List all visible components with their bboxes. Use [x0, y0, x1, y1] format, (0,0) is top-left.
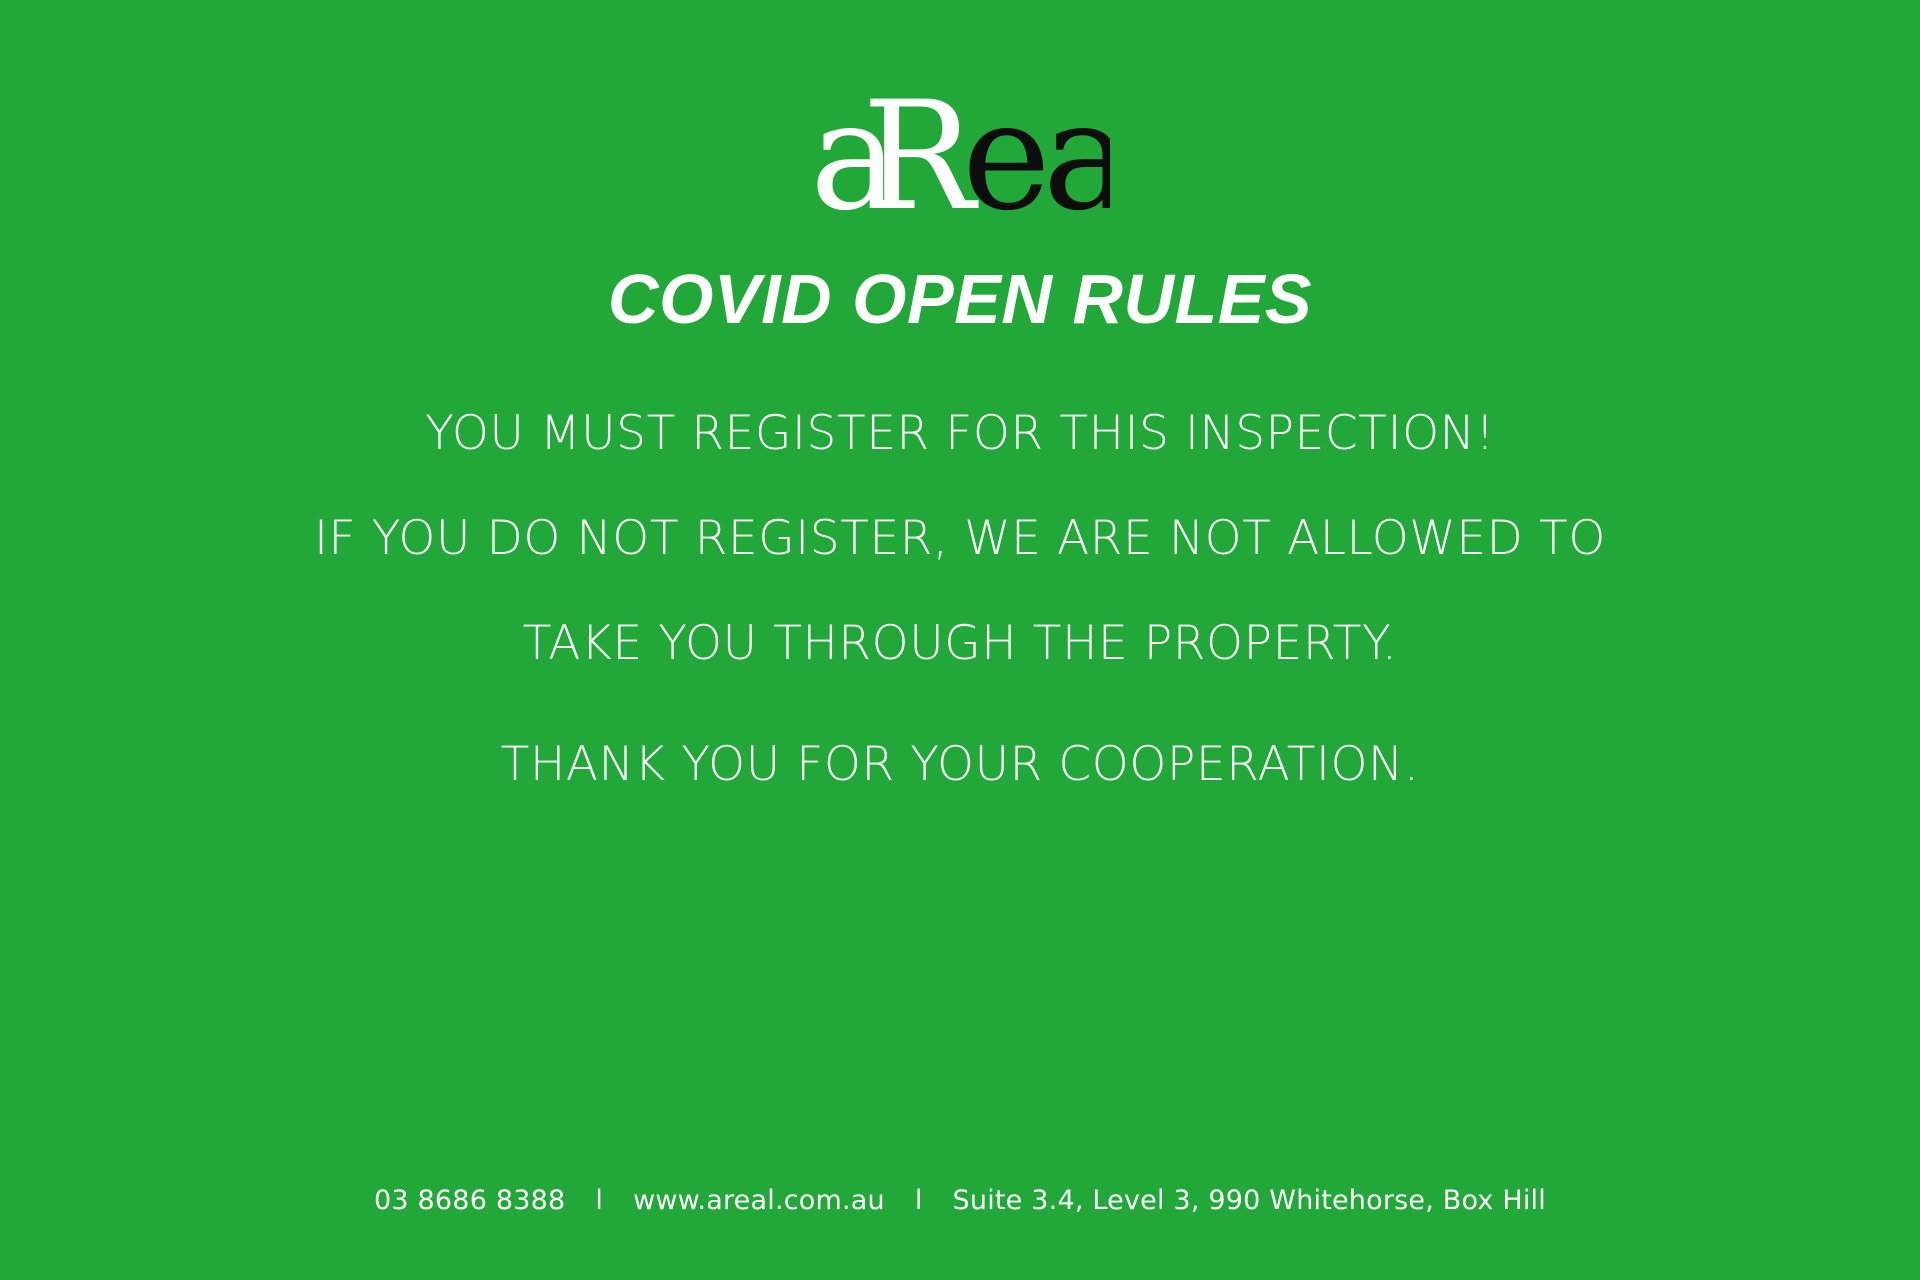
areal-logo-mark: a R eal — [810, 76, 1110, 216]
covid-open-rules-poster: a R eal COVID OPEN RULES YOU MUST REGIST… — [0, 0, 1920, 1280]
notice-line-1: YOU MUST REGISTER FOR THIS INSPECTION! — [0, 410, 1920, 457]
notice-line-4: THANK YOU FOR YOUR COOPERATION. — [0, 741, 1920, 788]
brand-logo: a R eal — [810, 76, 1110, 216]
logo-letters-eal: eal — [962, 76, 1110, 216]
notice-body: YOU MUST REGISTER FOR THIS INSPECTION! I… — [0, 410, 1920, 788]
page-title: COVID OPEN RULES — [608, 264, 1312, 334]
footer-address: Suite 3.4, Level 3, 990 Whitehorse, Box … — [953, 1185, 1546, 1216]
svg-text:eal: eal — [962, 76, 1110, 216]
contact-footer: 03 8686 8388 l www.areal.com.au l Suite … — [0, 1185, 1920, 1216]
footer-separator-1: l — [595, 1185, 603, 1216]
notice-line-3: TAKE YOU THROUGH THE PROPERTY. — [0, 620, 1920, 667]
footer-website[interactable]: www.areal.com.au — [633, 1185, 885, 1216]
areal-logo-svg: a R eal — [810, 76, 1110, 216]
footer-separator-2: l — [915, 1185, 923, 1216]
footer-phone[interactable]: 03 8686 8388 — [374, 1185, 565, 1216]
notice-line-2: IF YOU DO NOT REGISTER, WE ARE NOT ALLOW… — [0, 515, 1920, 562]
